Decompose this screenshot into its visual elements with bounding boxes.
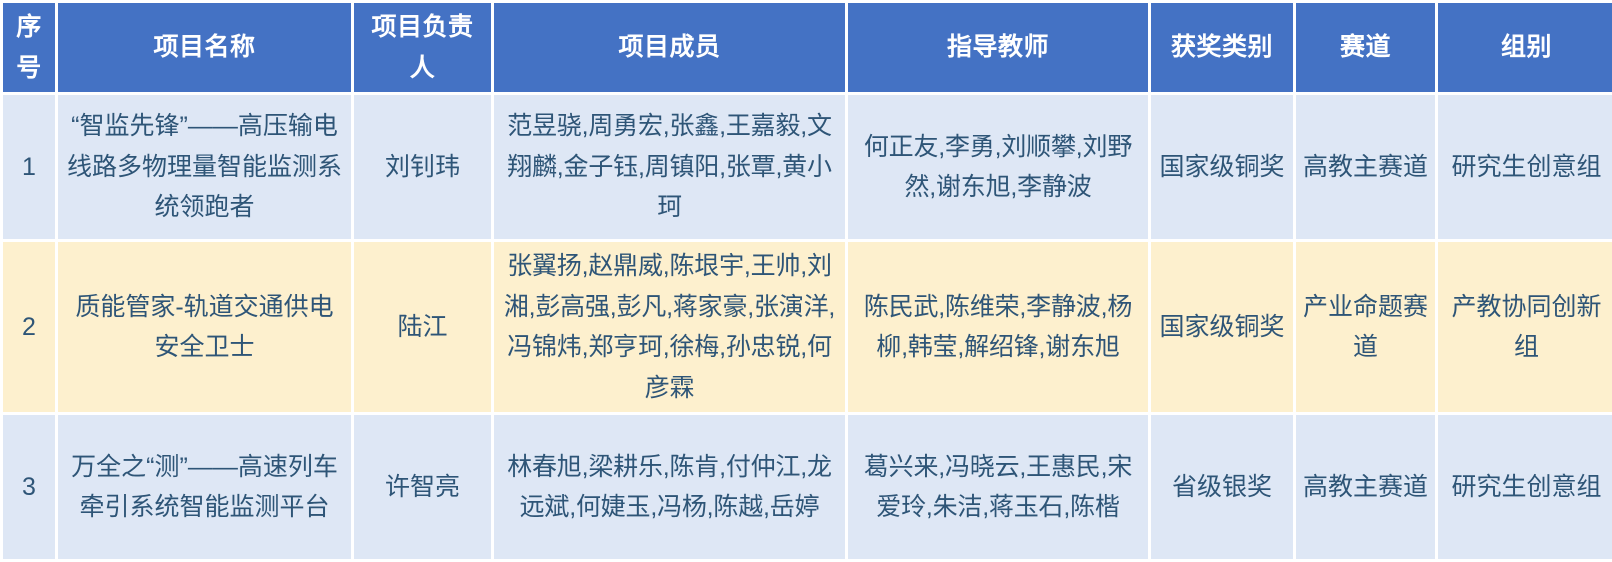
cell-advisors: 葛兴来,冯晓云,王惠民,宋爱玲,朱洁,蒋玉石,陈楷 <box>848 415 1148 559</box>
cell-advisors: 何正友,李勇,刘顺攀,刘野然,谢东旭,李静波 <box>848 95 1148 239</box>
cell-group: 研究生创意组 <box>1438 415 1612 559</box>
cell-track: 高教主赛道 <box>1296 95 1435 239</box>
cell-project-members: 范昱骁,周勇宏,张鑫,王嘉毅,文翔麟,金子钰,周镇阳,张覃,黄小珂 <box>494 95 845 239</box>
cell-project-leader: 许智亮 <box>354 415 491 559</box>
table-row: 3 万全之“测”——高速列车牵引系统智能监测平台 许智亮 林春旭,梁耕乐,陈肯,… <box>3 415 1612 559</box>
cell-index: 3 <box>3 415 55 559</box>
table-row: 1 “智监先锋”——高压输电线路多物理量智能监测系统领跑者 刘钊玮 范昱骁,周勇… <box>3 95 1612 239</box>
table-row: 2 质能管家-轨道交通供电安全卫士 陆江 张翼扬,赵鼎威,陈垠宇,王帅,刘湘,彭… <box>3 242 1612 412</box>
column-header-group: 组别 <box>1438 3 1612 92</box>
column-header-members: 项目成员 <box>494 3 845 92</box>
cell-project-leader: 陆江 <box>354 242 491 412</box>
cell-project-name: 万全之“测”——高速列车牵引系统智能监测平台 <box>58 415 351 559</box>
table-header: 序号 项目名称 项目负责人 项目成员 指导教师 获奖类别 赛道 组别 <box>3 3 1612 92</box>
cell-track: 高教主赛道 <box>1296 415 1435 559</box>
cell-award-type: 国家级铜奖 <box>1151 95 1293 239</box>
cell-award-type: 国家级铜奖 <box>1151 242 1293 412</box>
column-header-index: 序号 <box>3 3 55 92</box>
cell-project-members: 林春旭,梁耕乐,陈肯,付仲江,龙远斌,何婕玉,冯杨,陈越,岳婷 <box>494 415 845 559</box>
cell-project-members: 张翼扬,赵鼎威,陈垠宇,王帅,刘湘,彭高强,彭凡,蒋家豪,张演洋,冯锦炜,郑亨珂… <box>494 242 845 412</box>
cell-index: 1 <box>3 95 55 239</box>
header-row: 序号 项目名称 项目负责人 项目成员 指导教师 获奖类别 赛道 组别 <box>3 3 1612 92</box>
cell-project-name: “智监先锋”——高压输电线路多物理量智能监测系统领跑者 <box>58 95 351 239</box>
cell-project-leader: 刘钊玮 <box>354 95 491 239</box>
cell-index: 2 <box>3 242 55 412</box>
table-body: 1 “智监先锋”——高压输电线路多物理量智能监测系统领跑者 刘钊玮 范昱骁,周勇… <box>3 95 1612 559</box>
cell-track: 产业命题赛道 <box>1296 242 1435 412</box>
cell-project-name: 质能管家-轨道交通供电安全卫士 <box>58 242 351 412</box>
award-results-table: 序号 项目名称 项目负责人 项目成员 指导教师 获奖类别 赛道 组别 1 “智监… <box>0 0 1612 562</box>
column-header-award: 获奖类别 <box>1151 3 1293 92</box>
cell-advisors: 陈民武,陈维荣,李静波,杨柳,韩莹,解绍锋,谢东旭 <box>848 242 1148 412</box>
column-header-name: 项目名称 <box>58 3 351 92</box>
cell-group: 产教协同创新组 <box>1438 242 1612 412</box>
cell-group: 研究生创意组 <box>1438 95 1612 239</box>
column-header-leader: 项目负责人 <box>354 3 491 92</box>
cell-award-type: 省级银奖 <box>1151 415 1293 559</box>
column-header-track: 赛道 <box>1296 3 1435 92</box>
column-header-teachers: 指导教师 <box>848 3 1148 92</box>
